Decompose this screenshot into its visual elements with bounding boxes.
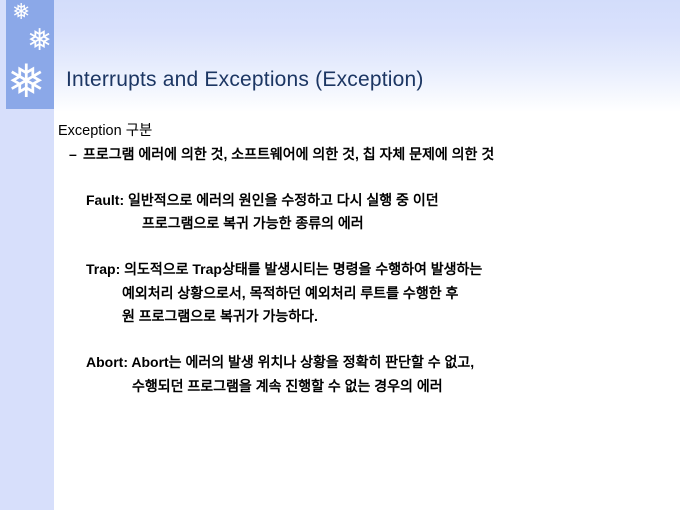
bullet-item-text: 프로그램 에러에 의한 것, 소프트웨어에 의한 것, 칩 자체 문제에 의한 …: [83, 144, 618, 164]
snowflake-medium-icon: ❅: [27, 26, 52, 56]
bullet-dash-marker: –: [69, 144, 83, 164]
term-block-abort: Abort: Abort는 에러의 발생 위치나 상황을 정확히 판단할 수 없…: [58, 352, 666, 396]
term-fault-line-1: Fault: 일반적으로 에러의 원인을 수정하고 다시 실행 중 이던: [86, 190, 666, 210]
snowflake-small-icon: ❅: [12, 1, 30, 23]
snowflake-large-icon: ❅: [7, 58, 46, 104]
snowflake-decoration-panel: ❅ ❅ ❅: [6, 0, 54, 109]
slide-title: Interrupts and Exceptions (Exception): [66, 68, 424, 92]
term-abort-line-2: 수행되던 프로그램을 계속 진행할 수 없는 경우의 에러: [86, 376, 666, 396]
term-block-fault: Fault: 일반적으로 에러의 원인을 수정하고 다시 실행 중 이던 프로그…: [58, 190, 666, 234]
bullet-item: – 프로그램 에러에 의한 것, 소프트웨어에 의한 것, 칩 자체 문제에 의…: [58, 144, 666, 164]
presentation-slide: ❅ ❅ ❅ Interrupts and Exceptions (Excepti…: [0, 0, 680, 510]
term-trap-line-1: Trap: 의도적으로 Trap상태를 발생시티는 명령을 수행하여 발생하는: [86, 259, 666, 279]
slide-body: Exception 구분 – 프로그램 에러에 의한 것, 소프트웨어에 의한 …: [58, 122, 666, 396]
body-lead-text: Exception 구분: [58, 122, 666, 142]
header-gradient-band: [0, 0, 680, 112]
term-trap-line-3: 원 프로그램으로 복귀가 가능하다.: [86, 306, 666, 326]
term-fault-line-2: 프로그램으로 복귀 가능한 종류의 에러: [86, 213, 666, 233]
term-abort-line-1: Abort: Abort는 에러의 발생 위치나 상황을 정확히 판단할 수 없…: [86, 352, 666, 372]
term-trap-line-2: 예외처리 상황으로서, 목적하던 예외처리 루트를 수행한 후: [86, 283, 666, 303]
term-block-trap: Trap: 의도적으로 Trap상태를 발생시티는 명령을 수행하여 발생하는 …: [58, 259, 666, 326]
